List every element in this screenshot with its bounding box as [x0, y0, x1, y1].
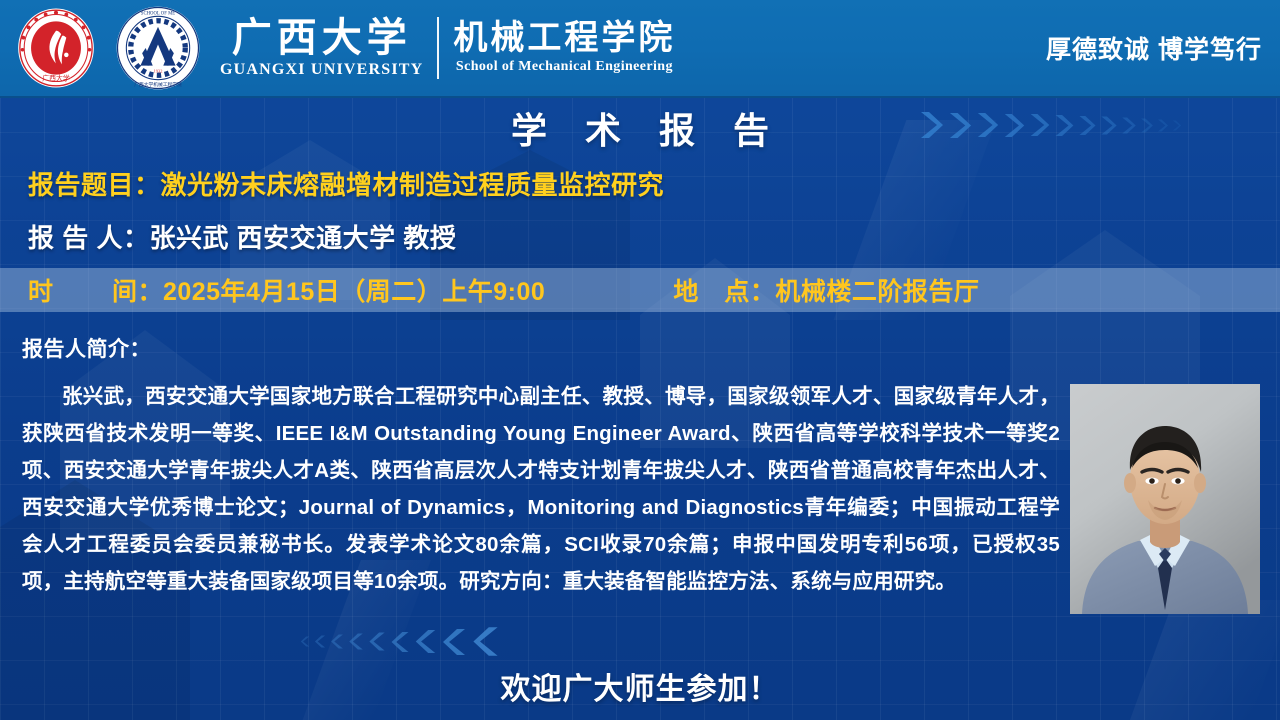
report-topic: 报告题目：激光粉末床熔融增材制造过程质量监控研究: [28, 165, 664, 202]
chevron-right-icon: [976, 111, 1000, 139]
chevron-right-icon: [1054, 113, 1075, 138]
chevron-left-icon: [414, 628, 437, 655]
chevron-left-icon: [314, 634, 326, 649]
school-name-en: School of Mechanical Engineering: [456, 59, 673, 75]
bio-heading: 报告人简介：: [22, 333, 151, 363]
chevron-left-icon: [441, 627, 467, 657]
university-name-en: GUANGXI UNIVERSITY: [220, 61, 423, 79]
university-name-cn: 广西大学: [232, 17, 412, 59]
guangxi-university-seal-icon: 广西大学: [10, 5, 102, 91]
bio-body: 张兴武，西安交通大学国家地方联合工程研究中心副主任、教授、博导，国家级领军人才、…: [22, 378, 1260, 616]
report-time: 时 间：2025年4月15日（周二）上午9:00: [28, 272, 545, 308]
chevron-right-icon: [1140, 117, 1154, 134]
university-motto: 厚德致诚 博学笃行: [1046, 30, 1262, 66]
chevron-decoration-right: [919, 110, 1182, 140]
chevron-left-icon: [348, 632, 364, 651]
chevron-right-icon: [1003, 112, 1026, 139]
title-row: 学 术 报 告: [0, 100, 1280, 156]
chevron-decoration-bottom: [300, 625, 500, 658]
chevron-right-icon: [948, 111, 973, 140]
chevron-right-icon: [1029, 112, 1051, 138]
chevron-left-icon: [330, 633, 344, 650]
chevron-right-icon: [1157, 118, 1169, 133]
time-place-bar: 时 间：2025年4月15日（周二）上午9:00 地 点：机械楼二阶报告厅: [0, 268, 1280, 312]
speaker-portrait-image: [1070, 384, 1260, 614]
school-of-mechanical-engineering-seal-icon: 1932 SCHOOL OF ME 广西大学机械工程学院: [110, 4, 206, 92]
chevron-right-icon: [1078, 114, 1097, 137]
school-name-cn: 机械工程学院: [453, 21, 675, 57]
chevron-left-icon: [368, 631, 386, 652]
header-bar: 广西大学 1932 SCHOOL OF ME 广西大学机械工程学院: [0, 0, 1280, 98]
chevron-left-icon: [471, 625, 500, 658]
welcome-footer: 欢迎广大师生参加！: [0, 664, 1280, 708]
chevron-right-icon: [1172, 119, 1182, 132]
report-speaker: 报 告 人：张兴武 西安交通大学 教授: [28, 218, 456, 255]
chevron-right-icon: [1121, 116, 1137, 135]
svg-text:1932: 1932: [154, 69, 163, 74]
report-place: 地 点：机械楼二阶报告厅: [673, 272, 979, 308]
poster-root: 广西大学 1932 SCHOOL OF ME 广西大学机械工程学院: [0, 0, 1280, 720]
svg-text:SCHOOL OF ME: SCHOOL OF ME: [141, 12, 175, 17]
chevron-right-icon: [1100, 115, 1118, 136]
chevron-right-icon: [919, 110, 945, 140]
chevron-left-icon: [390, 630, 410, 654]
institution-names: 广西大学 GUANGXI UNIVERSITY 机械工程学院 School of…: [220, 17, 675, 79]
speaker-portrait: [1070, 384, 1260, 614]
chevron-left-icon: [300, 635, 310, 648]
bio-text: 张兴武，西安交通大学国家地方联合工程研究中心副主任、教授、博导，国家级领军人才、…: [22, 385, 1060, 593]
name-divider: [437, 17, 439, 79]
svg-text:广西大学: 广西大学: [42, 74, 70, 83]
